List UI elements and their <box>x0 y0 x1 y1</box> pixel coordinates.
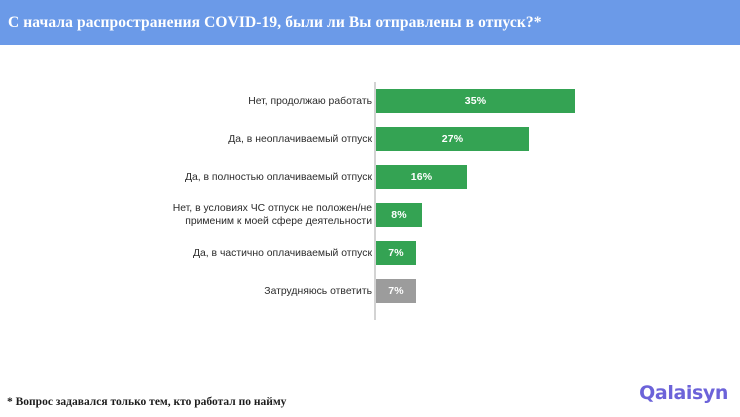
qalaisyn-logo: Qalaisyn <box>639 382 728 404</box>
category-label: Да, в полностью оплачиваемый отпуск <box>112 158 372 196</box>
bar-chart: Нет, продолжаю работать 35% Да, в неопла… <box>0 82 740 322</box>
bar[interactable]: 8% <box>376 203 422 227</box>
category-label-line: Да, в полностью оплачиваемый отпуск <box>185 171 372 184</box>
bar-container: 7% <box>376 279 416 303</box>
bar-value-label: 8% <box>391 209 407 221</box>
page-title: С начала распространения COVID-19, были … <box>8 0 732 45</box>
bar-container: 8% <box>376 203 422 227</box>
bar-value-label: 7% <box>388 247 404 259</box>
category-label-line: Затрудняюсь ответить <box>264 285 372 298</box>
bar-value-label: 16% <box>411 171 433 183</box>
bar[interactable]: 16% <box>376 165 467 189</box>
chart-row: Нет, продолжаю работать 35% <box>0 82 740 120</box>
category-label: Да, в неоплачиваемый отпуск <box>112 120 372 158</box>
category-label: Нет, в условиях ЧС отпуск не положен/не … <box>112 196 372 234</box>
category-label-line: Нет, продолжаю работать <box>248 95 372 108</box>
category-label-line: Да, в неоплачиваемый отпуск <box>228 133 372 146</box>
category-label: Да, в частично оплачиваемый отпуск <box>112 234 372 272</box>
bar[interactable]: 7% <box>376 279 416 303</box>
bar-value-label: 7% <box>388 285 404 297</box>
bar-container: 27% <box>376 127 529 151</box>
bar-container: 35% <box>376 89 575 113</box>
bar[interactable]: 35% <box>376 89 575 113</box>
chart-row: Да, в неоплачиваемый отпуск 27% <box>0 120 740 158</box>
bar[interactable]: 27% <box>376 127 529 151</box>
category-label: Затрудняюсь ответить <box>112 272 372 310</box>
chart-row: Затрудняюсь ответить 7% <box>0 272 740 310</box>
chart-row: Да, в частично оплачиваемый отпуск 7% <box>0 234 740 272</box>
category-label-line: применим к моей сфере деятельности <box>173 215 372 228</box>
chart-row: Да, в полностью оплачиваемый отпуск 16% <box>0 158 740 196</box>
bar-value-label: 35% <box>465 95 487 107</box>
bar-container: 7% <box>376 241 416 265</box>
category-label-line: Нет, в условиях ЧС отпуск не положен/не <box>173 202 372 215</box>
slide-canvas: С начала распространения COVID-19, были … <box>0 0 740 417</box>
category-label-line: Да, в частично оплачиваемый отпуск <box>193 247 372 260</box>
chart-row: Нет, в условиях ЧС отпуск не положен/не … <box>0 196 740 234</box>
header-band: С начала распространения COVID-19, были … <box>0 0 740 45</box>
bar-container: 16% <box>376 165 467 189</box>
bar-value-label: 27% <box>442 133 464 145</box>
footnote: * Вопрос задавался только тем, кто работ… <box>7 396 286 408</box>
category-label: Нет, продолжаю работать <box>112 82 372 120</box>
bar[interactable]: 7% <box>376 241 416 265</box>
